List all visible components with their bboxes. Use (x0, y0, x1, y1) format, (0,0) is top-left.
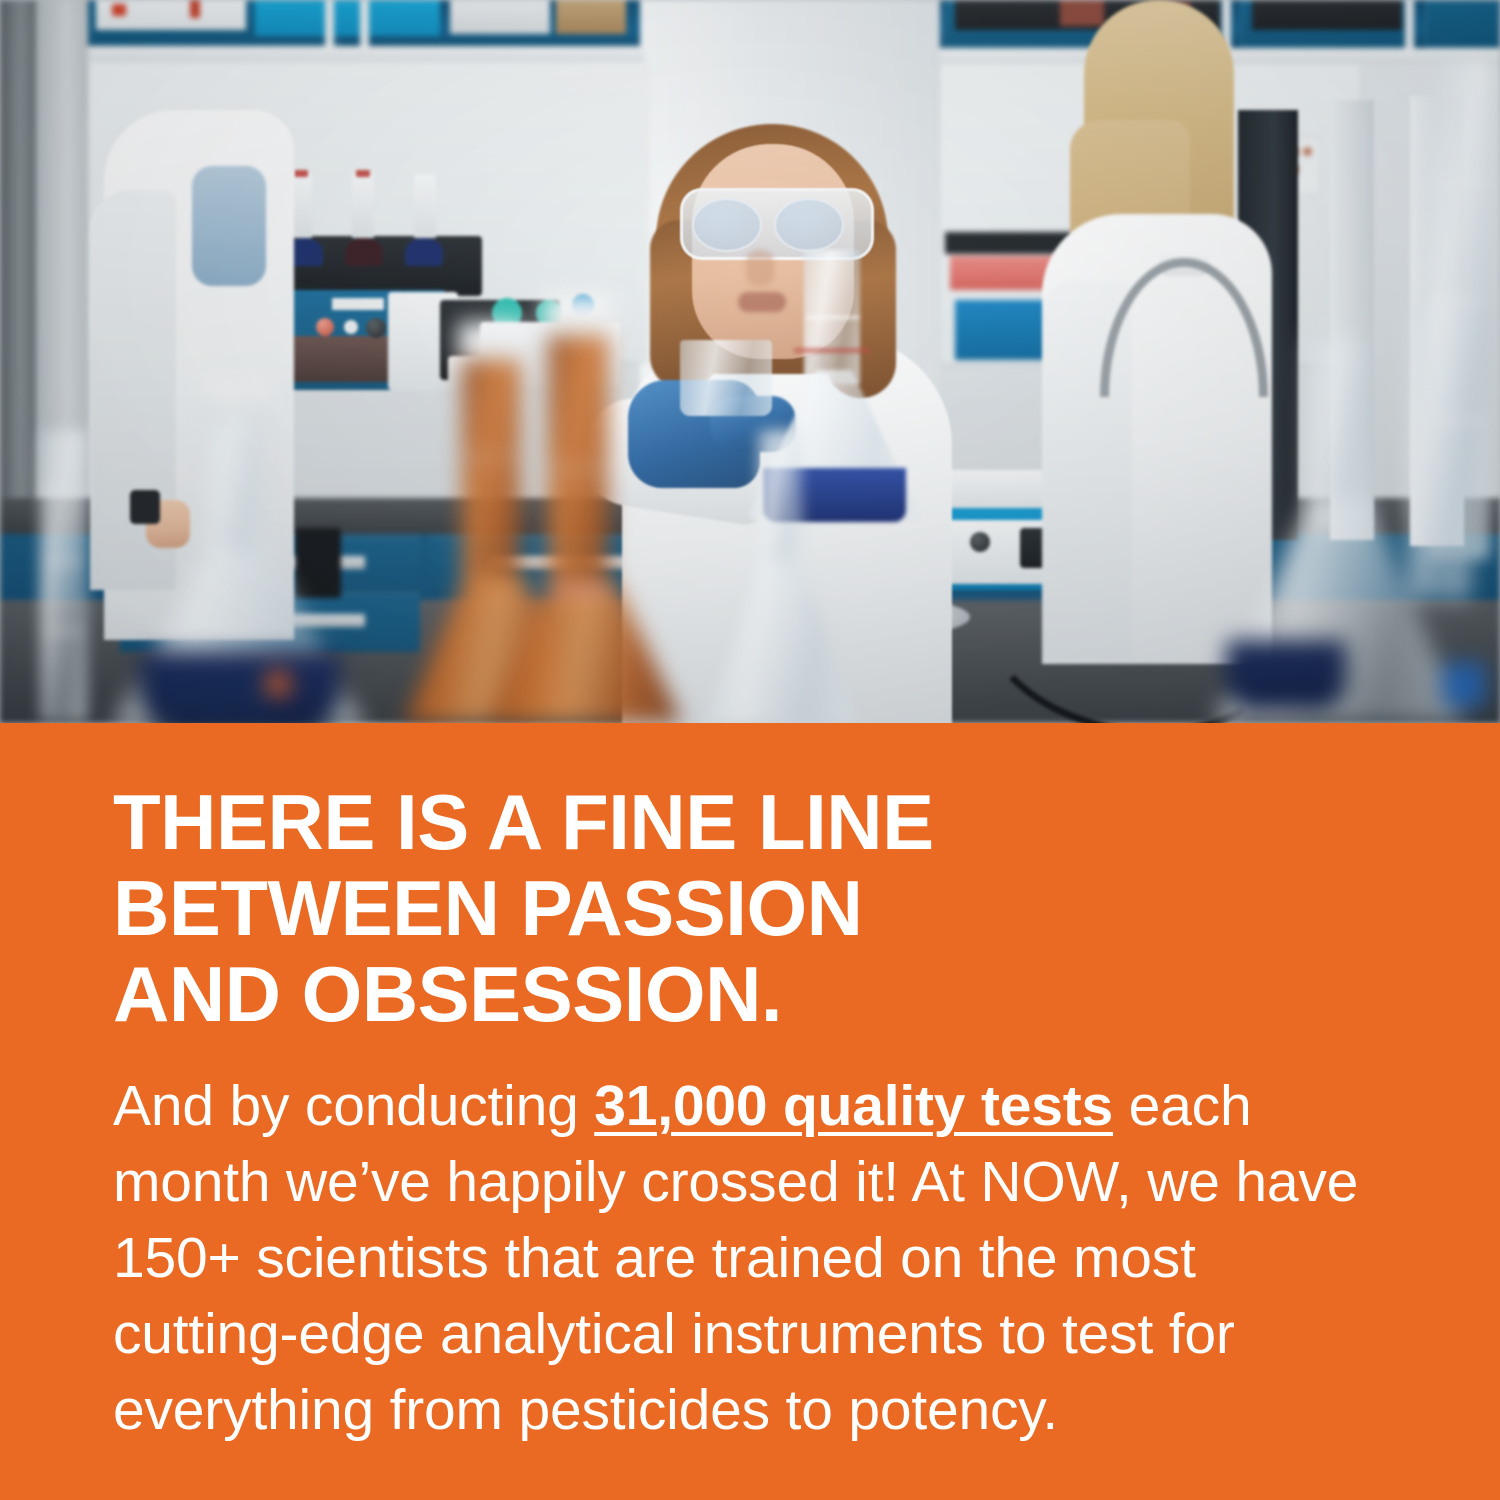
cylinder-grad-1 (42, 490, 84, 493)
page-title: There is a fine line between passion and… (113, 779, 1433, 1037)
pipette-4 (414, 174, 436, 238)
right-column-body (1430, 60, 1490, 560)
foreground-flask-mid (700, 430, 870, 723)
flask-left-cap (202, 382, 268, 416)
pipette-tip-3 (356, 170, 370, 177)
person-left-collar (192, 166, 266, 286)
pipette-3 (352, 172, 374, 238)
flask-left-sticker (266, 672, 290, 696)
orange-text-panel: There is a fine line between passion and… (0, 723, 1500, 1500)
right-blue-item (1442, 662, 1486, 708)
instrument-knob-white (344, 320, 358, 334)
amber-flask-a-cap (458, 322, 524, 360)
flask-red-mark (794, 348, 870, 353)
flask-mid-neck (758, 430, 802, 580)
goggles-lens-right (774, 198, 844, 252)
foreground-flasks-amber (420, 300, 730, 723)
foreground-flask-left: 500 (96, 390, 396, 723)
cylinder-left-body (40, 430, 88, 723)
cylinder-grad-2 (42, 560, 84, 563)
cabinet-contents-box (556, 0, 626, 34)
amber-flask-a-grad (464, 456, 518, 459)
cabinet-divider-2 (360, 0, 369, 48)
foreground-column-right (1420, 60, 1500, 560)
right-column-grad-1 (1432, 180, 1486, 183)
shelf-lip-left (85, 46, 645, 62)
cabinet-contents-white (450, 0, 550, 34)
flask-graduation-1 (806, 316, 860, 319)
cabinet-divider (325, 0, 334, 48)
foreground-cylinder-left (26, 430, 106, 723)
cylinder-grad-3 (42, 630, 84, 633)
amber-flask-a-neck (462, 340, 520, 600)
flask-volume-label: 500 (158, 658, 274, 723)
cabinet-item-red-2 (190, 0, 200, 18)
instrument-knob-dark (366, 318, 386, 338)
amber-flask-b-mark (548, 586, 608, 594)
bottle-blue-3 (405, 238, 443, 266)
flask-left-neck (208, 390, 262, 576)
lab-photo: 500 (0, 0, 1500, 723)
flask-mid-body (706, 562, 856, 723)
right-flask-liquid (1226, 640, 1346, 710)
marketing-poster: 500 (0, 0, 1500, 1500)
upper-cabinet-edge (1425, 0, 1500, 48)
amber-flask-b-neck (548, 316, 608, 606)
body-copy-before: And by conducting (113, 1074, 594, 1138)
stat-quality-tests: 31,000 quality tests (594, 1074, 1113, 1138)
cabinet-item-red (112, 4, 126, 16)
amber-flask-b-cap (544, 296, 612, 336)
cabinet-contents-blue (255, 0, 440, 36)
goggles-lens-left (692, 198, 762, 252)
cabinet-divider-4 (1405, 0, 1414, 48)
amber-flask-b-grad (550, 468, 606, 471)
bottle-dark (345, 238, 383, 266)
body-copy: And by conducting 31,000 quality tests e… (113, 1068, 1383, 1448)
right-column-grad-2 (1432, 300, 1486, 303)
right-column-grad-3 (1432, 420, 1486, 423)
